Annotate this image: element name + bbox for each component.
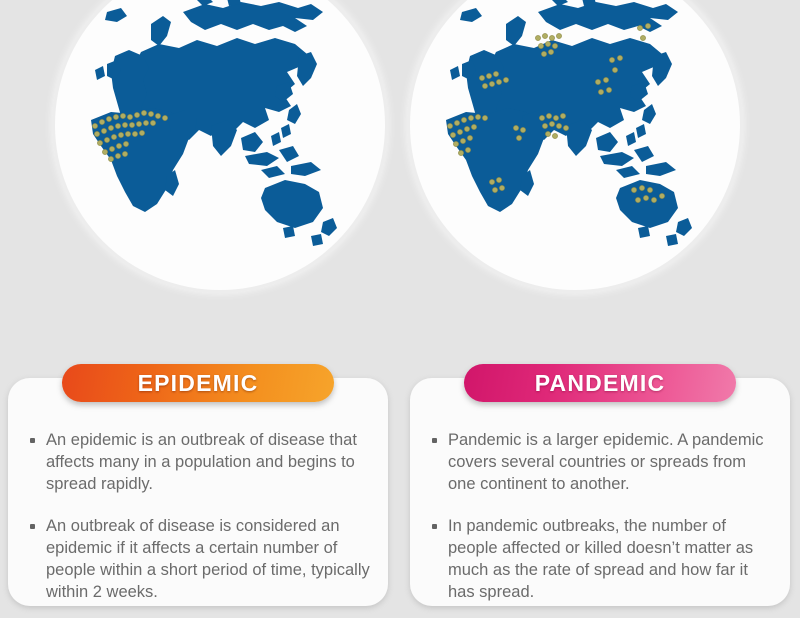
epidemic-globe bbox=[55, 0, 385, 335]
list-item: An outbreak of disease is considered an … bbox=[24, 516, 370, 604]
list-item: Pandemic is a larger epidemic. A pandemi… bbox=[426, 430, 772, 496]
bullet-text: Pandemic is a larger epidemic. A pandemi… bbox=[448, 431, 764, 493]
bullet-text: An epidemic is an outbreak of disease th… bbox=[46, 431, 357, 493]
bullet-icon bbox=[432, 524, 437, 529]
epidemic-world-map bbox=[55, 0, 385, 290]
bullet-text: In pandemic outbreaks, the number of peo… bbox=[448, 517, 753, 601]
bullet-icon bbox=[432, 438, 437, 443]
list-item: An epidemic is an outbreak of disease th… bbox=[24, 430, 370, 496]
list-item: In pandemic outbreaks, the number of peo… bbox=[426, 516, 772, 604]
bullet-icon bbox=[30, 438, 35, 443]
pandemic-card: PANDEMIC Pandemic is a larger epidemic. … bbox=[410, 378, 790, 606]
pandemic-title-pill: PANDEMIC bbox=[464, 364, 736, 402]
pandemic-world-map bbox=[410, 0, 740, 290]
globes-row bbox=[0, 0, 800, 355]
epidemic-card: EPIDEMIC An epidemic is an outbreak of d… bbox=[8, 378, 388, 606]
bullet-text: An outbreak of disease is considered an … bbox=[46, 517, 370, 601]
epidemic-title-label: EPIDEMIC bbox=[138, 370, 259, 397]
epidemic-title-pill: EPIDEMIC bbox=[62, 364, 334, 402]
pandemic-title-label: PANDEMIC bbox=[535, 370, 666, 397]
definition-cards-row: EPIDEMIC An epidemic is an outbreak of d… bbox=[0, 358, 800, 618]
bullet-icon bbox=[30, 524, 35, 529]
pandemic-bullet-list: Pandemic is a larger epidemic. A pandemi… bbox=[410, 378, 790, 604]
epidemic-bullet-list: An epidemic is an outbreak of disease th… bbox=[8, 378, 388, 604]
pandemic-globe bbox=[410, 0, 740, 335]
